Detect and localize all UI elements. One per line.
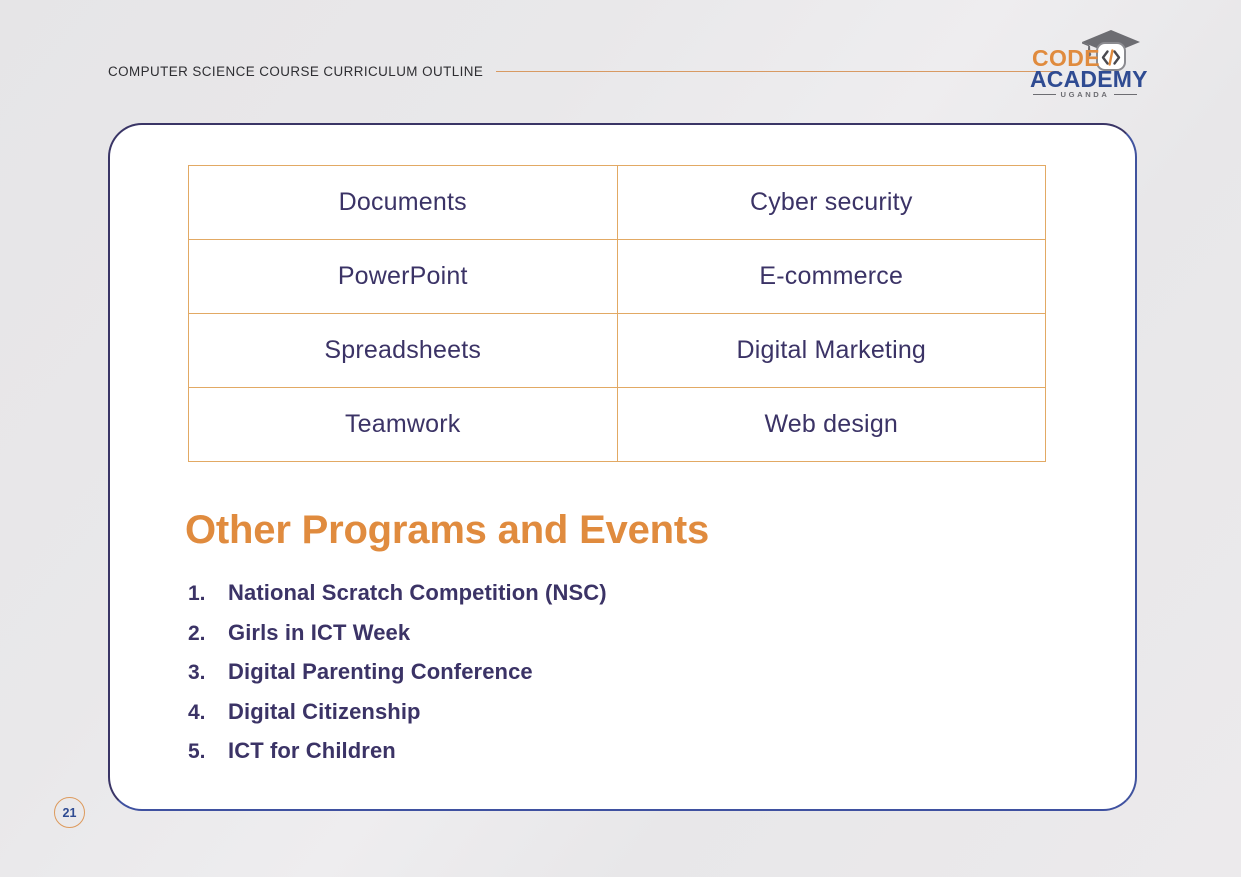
table-cell-left: Spreadsheets — [189, 314, 618, 388]
header-title: COMPUTER SCIENCE COURSE CURRICULUM OUTLI… — [108, 64, 483, 79]
page-number-badge: 21 — [54, 797, 85, 828]
table-row: Spreadsheets Digital Marketing — [189, 314, 1046, 388]
brand-logo: CODE ACADEMY UGANDA — [1030, 28, 1142, 94]
content-card: Documents Cyber security PowerPoint E-co… — [108, 123, 1137, 811]
logo-text-academy: ACADEMY — [1030, 68, 1148, 91]
table-cell-right: Cyber security — [617, 166, 1046, 240]
logo-text-uganda: UGANDA — [1061, 90, 1110, 99]
list-item-label: ICT for Children — [228, 738, 396, 764]
table-row: PowerPoint E-commerce — [189, 240, 1046, 314]
logo-country-row: UGANDA — [1033, 90, 1137, 99]
slide-header: COMPUTER SCIENCE COURSE CURRICULUM OUTLI… — [108, 56, 1008, 86]
table-row: Teamwork Web design — [189, 388, 1046, 462]
list-item-label: Digital Citizenship — [228, 699, 421, 725]
list-item: 3. Digital Parenting Conference — [188, 659, 888, 699]
list-item-label: National Scratch Competition (NSC) — [228, 580, 607, 606]
list-item: 1. National Scratch Competition (NSC) — [188, 580, 888, 620]
list-item: 4. Digital Citizenship — [188, 699, 888, 739]
table-cell-right: Digital Marketing — [617, 314, 1046, 388]
table-cell-left: PowerPoint — [189, 240, 618, 314]
list-item-number: 3. — [188, 661, 228, 685]
list-item-number: 4. — [188, 701, 228, 725]
slide: COMPUTER SCIENCE COURSE CURRICULUM OUTLI… — [0, 0, 1241, 877]
logo-dash-left — [1033, 94, 1056, 96]
skills-table: Documents Cyber security PowerPoint E-co… — [188, 165, 1046, 462]
list-item-label: Girls in ICT Week — [228, 620, 410, 646]
section-heading: Other Programs and Events — [185, 510, 709, 550]
table-row: Documents Cyber security — [189, 166, 1046, 240]
list-item-label: Digital Parenting Conference — [228, 659, 533, 685]
table-cell-left: Teamwork — [189, 388, 618, 462]
list-item-number: 5. — [188, 740, 228, 764]
list-item-number: 2. — [188, 622, 228, 646]
table-cell-right: Web design — [617, 388, 1046, 462]
header-divider-rule — [496, 71, 1059, 72]
table-cell-left: Documents — [189, 166, 618, 240]
table-cell-right: E-commerce — [617, 240, 1046, 314]
list-item: 5. ICT for Children — [188, 738, 888, 778]
programs-list: 1. National Scratch Competition (NSC) 2.… — [188, 580, 888, 778]
logo-dash-right — [1114, 94, 1137, 96]
list-item: 2. Girls in ICT Week — [188, 620, 888, 660]
list-item-number: 1. — [188, 582, 228, 606]
